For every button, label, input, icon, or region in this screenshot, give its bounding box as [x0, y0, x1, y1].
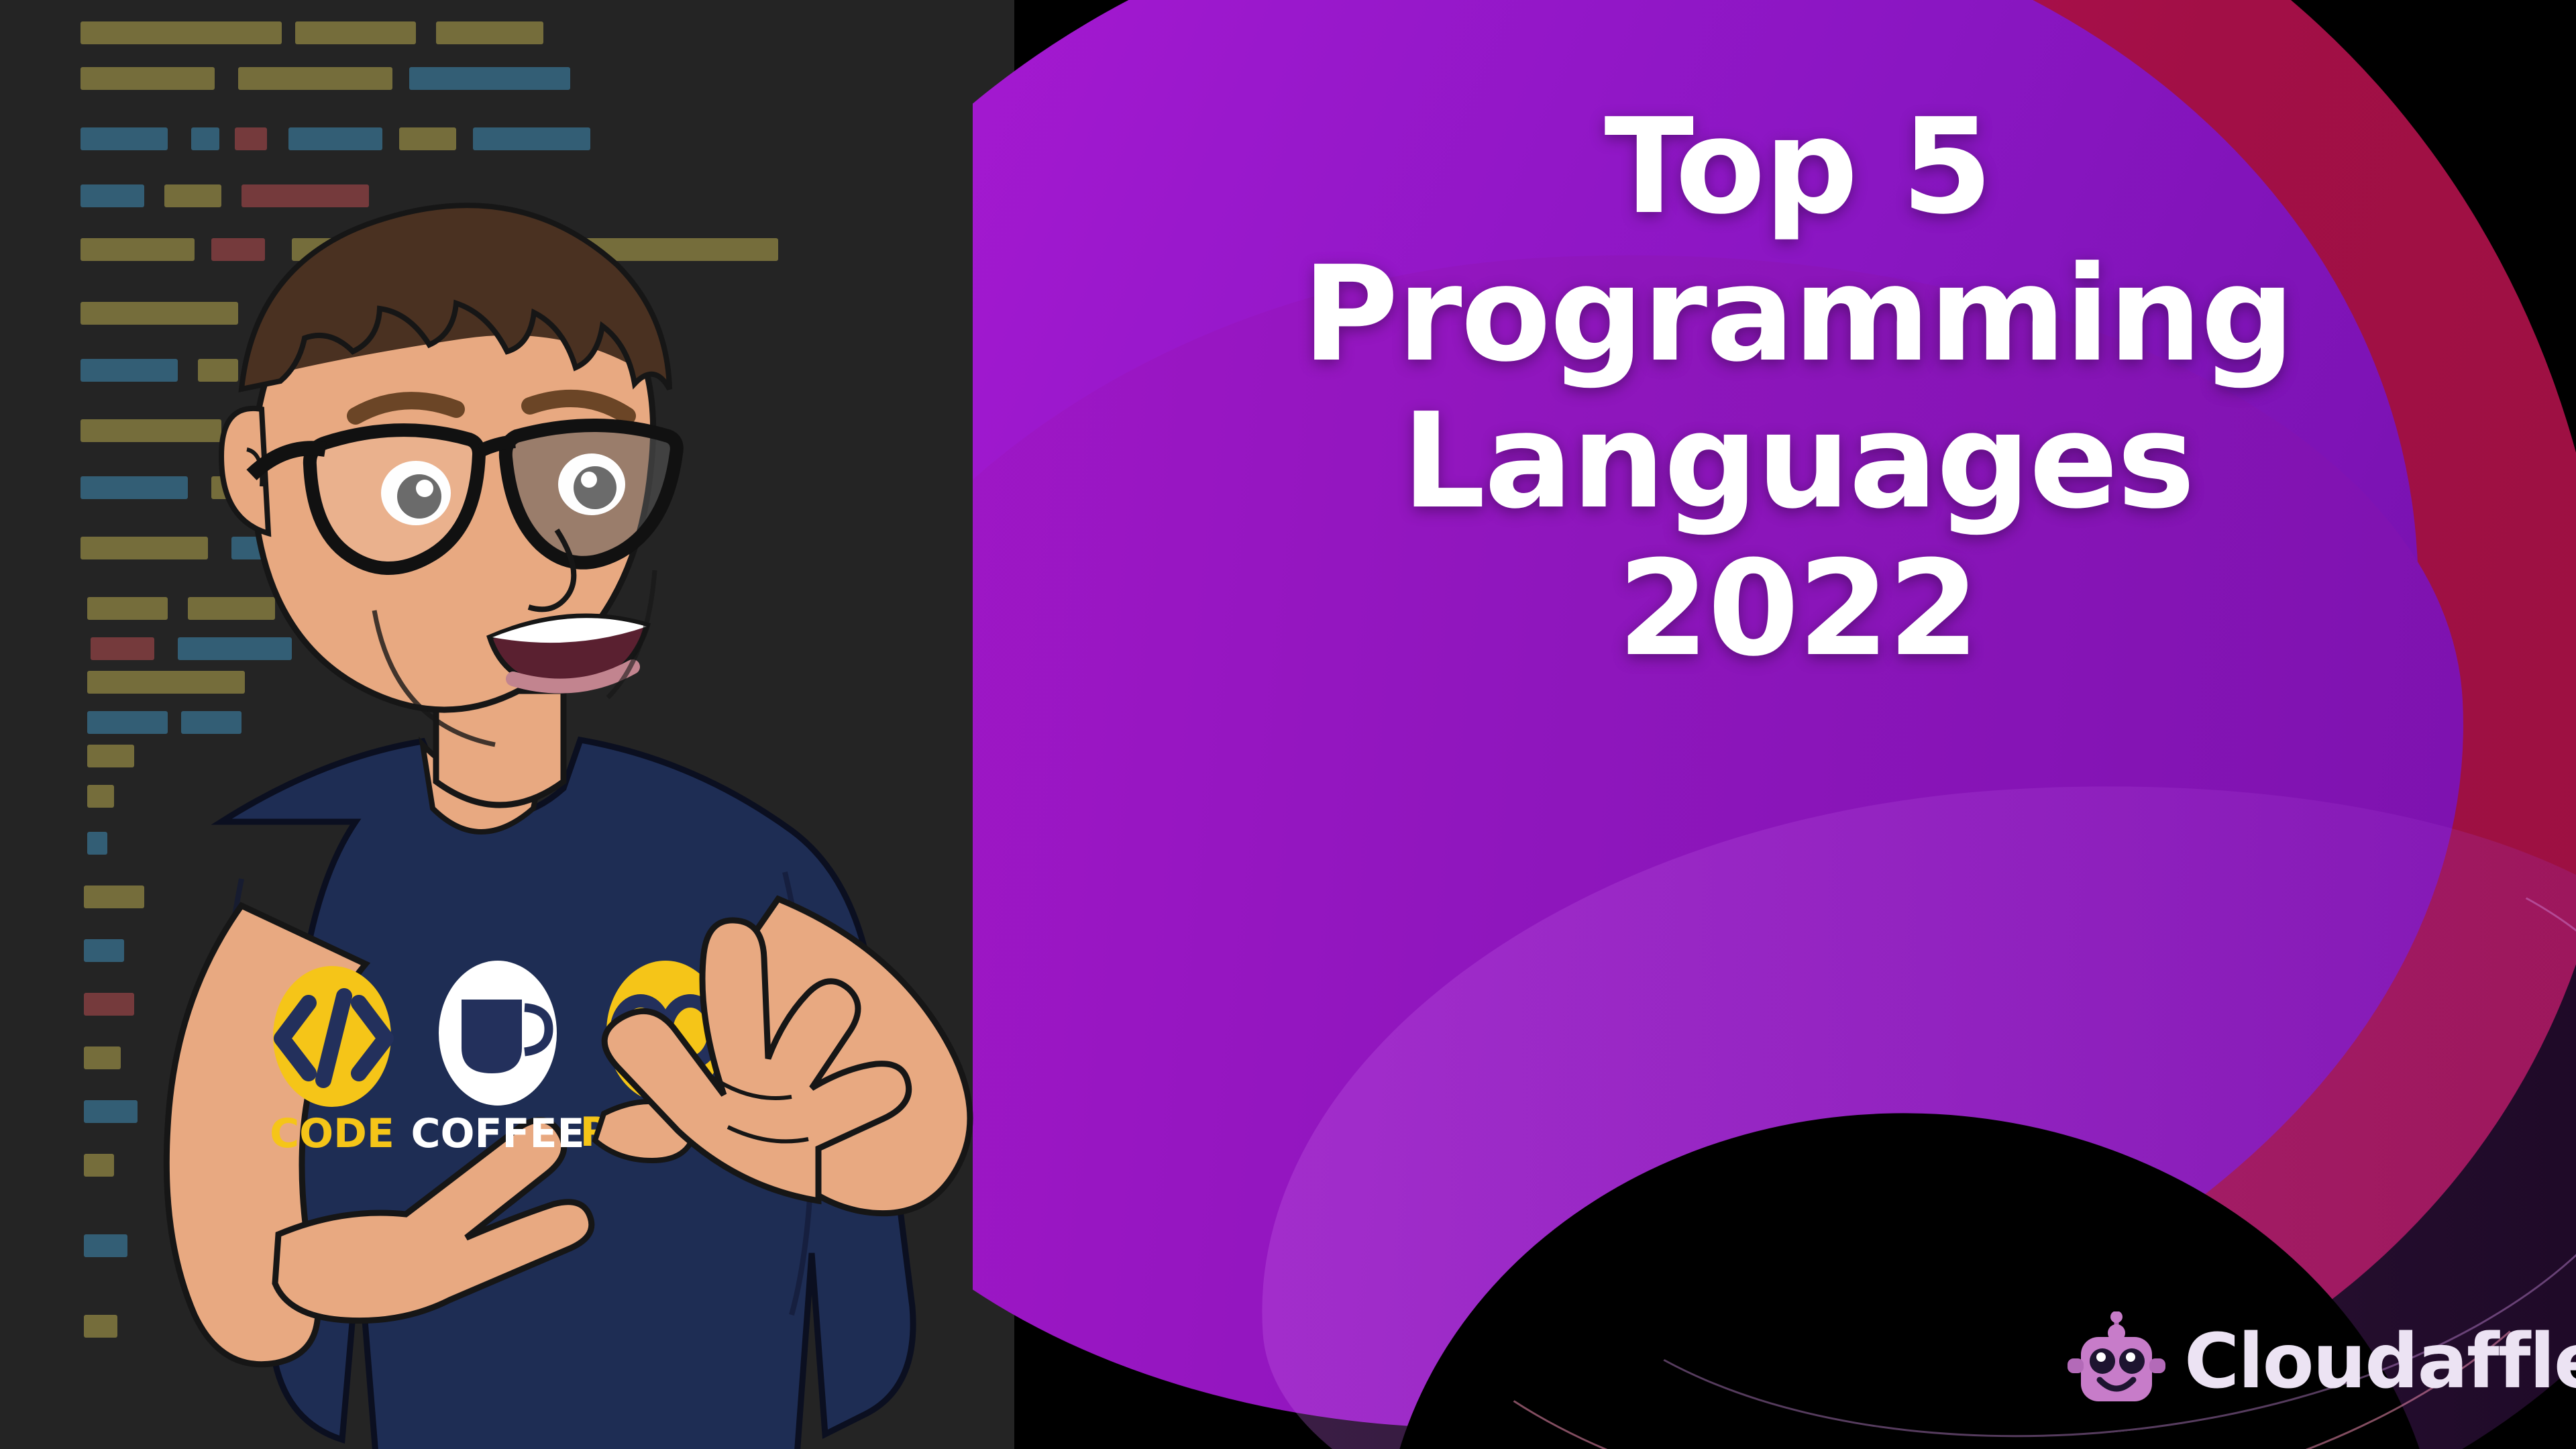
character-head [221, 205, 677, 745]
robot-icon [2066, 1311, 2167, 1412]
code-line-bar [80, 67, 215, 90]
code-line-bar [436, 21, 543, 44]
headline-block: Top 5 Programming Languages 2022 [1033, 94, 2563, 683]
badge-label-coffee: COFFEE [411, 1110, 585, 1157]
character-illustration: CODE COFFEE REPEAT [20, 101, 1053, 1449]
headline-line-2: Programming [1033, 241, 2563, 389]
code-line-bar [80, 21, 282, 44]
code-line-bar [295, 21, 416, 44]
code-line-bar [409, 67, 570, 90]
badge-label-code: CODE [270, 1110, 394, 1157]
code-line-bar [238, 67, 392, 90]
brand-logo[interactable]: Cloudaffle [2066, 1311, 2576, 1412]
headline-line-4: 2022 [1033, 536, 2563, 684]
brand-logo-text: Cloudaffle [2184, 1318, 2576, 1405]
headline-line-1: Top 5 [1033, 94, 2563, 241]
headline-line-3: Languages [1033, 388, 2563, 536]
thumbnail-canvas: Top 5 Programming Languages 2022 [0, 0, 2576, 1449]
